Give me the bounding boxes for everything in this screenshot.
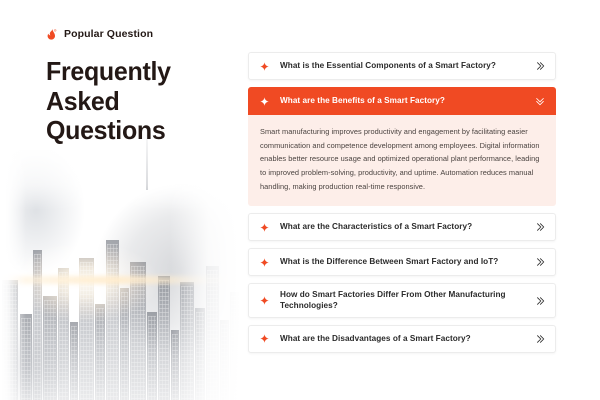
faq-question-row[interactable]: What are the Benefits of a Smart Factory…	[248, 87, 556, 115]
sparkle-star-icon	[260, 258, 269, 267]
faq-question-row[interactable]: How do Smart Factories Differ From Other…	[248, 283, 556, 318]
faq-question-text: What is the Essential Components of a Sm…	[280, 61, 527, 71]
faq-item: What is the Difference Between Smart Fac…	[248, 248, 556, 276]
faq-item: What are the Benefits of a Smart Factory…	[248, 87, 556, 206]
sparkle-star-icon	[260, 334, 269, 343]
faq-question-text: What are the Disadvantages of a Smart Fa…	[280, 334, 527, 344]
page-title: Frequently Asked Questions	[46, 57, 228, 144]
faq-answer-panel: Smart manufacturing improves productivit…	[248, 115, 556, 206]
double-chevron-down-icon[interactable]	[535, 96, 545, 106]
sparkle-star-icon	[260, 62, 269, 71]
robotic-hand-silhouette	[6, 150, 236, 400]
sun-flare	[0, 210, 240, 360]
faq-page: Popular Question Frequently Asked Questi…	[0, 0, 600, 400]
double-chevron-right-icon[interactable]	[535, 296, 545, 306]
faq-item: What is the Essential Components of a Sm…	[248, 52, 556, 80]
faq-item: How do Smart Factories Differ From Other…	[248, 283, 556, 318]
faq-question-row[interactable]: What are the Disadvantages of a Smart Fa…	[248, 325, 556, 353]
sun-flare-streak	[0, 276, 240, 284]
double-chevron-right-icon[interactable]	[535, 61, 545, 71]
faq-item: What are the Disadvantages of a Smart Fa…	[248, 325, 556, 353]
faq-question-text: What is the Difference Between Smart Fac…	[280, 257, 527, 267]
eyebrow: Popular Question	[46, 28, 246, 40]
eyebrow-label: Popular Question	[64, 28, 153, 40]
sparkle-star-icon	[260, 296, 269, 305]
faq-question-text: How do Smart Factories Differ From Other…	[280, 290, 527, 311]
flame-badge-icon	[46, 28, 58, 40]
faq-question-text: What are the Characteristics of a Smart …	[280, 222, 527, 232]
faq-question-row[interactable]: What is the Essential Components of a Sm…	[248, 52, 556, 80]
double-chevron-right-icon[interactable]	[535, 257, 545, 267]
double-chevron-right-icon[interactable]	[535, 334, 545, 344]
sparkle-star-icon	[260, 97, 269, 106]
artwork-left-fade	[0, 0, 26, 400]
faq-accordion: What is the Essential Components of a Sm…	[248, 52, 556, 353]
sparkle-star-icon	[260, 223, 269, 232]
faq-question-row[interactable]: What is the Difference Between Smart Fac…	[248, 248, 556, 276]
double-chevron-right-icon[interactable]	[535, 222, 545, 232]
city-skyline-graphic	[0, 170, 240, 400]
faq-answer-text: Smart manufacturing improves productivit…	[260, 125, 541, 193]
faq-question-row[interactable]: What are the Characteristics of a Smart …	[248, 213, 556, 241]
faq-item: What are the Characteristics of a Smart …	[248, 213, 556, 241]
faq-question-text: What are the Benefits of a Smart Factory…	[280, 96, 527, 106]
page-header: Popular Question Frequently Asked Questi…	[46, 28, 246, 162]
